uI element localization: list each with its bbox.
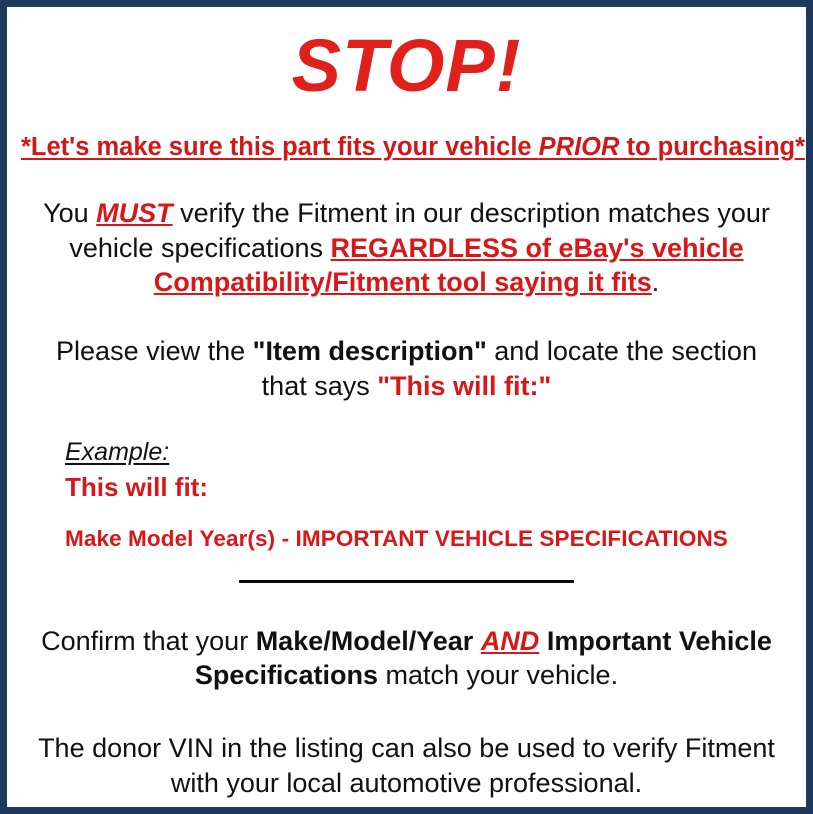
must-text-part1: You xyxy=(43,198,96,228)
and-emphasis: AND xyxy=(481,626,540,656)
example-label: Example: xyxy=(65,439,792,467)
subheading-emphasis: PRIOR xyxy=(539,133,620,161)
must-text-part3: . xyxy=(652,267,660,297)
subheading-lead: *Let's make sure this part fits your veh… xyxy=(21,133,539,161)
paragraph-confirm: Confirm that your Make/Model/Year AND Im… xyxy=(21,624,792,693)
confirm-text-part2: match your vehicle. xyxy=(378,660,618,690)
section-divider xyxy=(239,580,574,583)
confirm-text-part1: Confirm that your xyxy=(41,626,256,656)
subheading-tail: to purchasing* xyxy=(619,133,805,161)
paragraph-must-verify: You MUST verify the Fitment in our descr… xyxy=(21,196,792,300)
example-block: Example: This will fit: Make Model Year(… xyxy=(21,439,792,552)
page-title: STOP! xyxy=(21,29,792,103)
item-description-quote: "Item description" xyxy=(253,336,487,366)
example-fit-heading: This will fit: xyxy=(65,473,792,502)
this-will-fit-quote: "This will fit:" xyxy=(377,371,551,401)
confirm-bold-make-model-year: Make/Model/Year xyxy=(256,626,474,656)
divider-wrap xyxy=(21,580,792,594)
must-emphasis: MUST xyxy=(96,198,173,228)
notice-content: STOP! *Let's make sure this part fits yo… xyxy=(7,7,806,807)
subheading-banner: *Let's make sure this part fits your veh… xyxy=(21,133,792,162)
fitment-notice-card: STOP! *Let's make sure this part fits yo… xyxy=(0,0,813,814)
example-spec-line: Make Model Year(s) - IMPORTANT VEHICLE S… xyxy=(65,527,792,552)
paragraph-item-description: Please view the "Item description" and l… xyxy=(21,334,792,403)
paragraph-donor-vin: The donor VIN in the listing can also be… xyxy=(21,731,792,800)
desc-text-part1: Please view the xyxy=(56,336,253,366)
